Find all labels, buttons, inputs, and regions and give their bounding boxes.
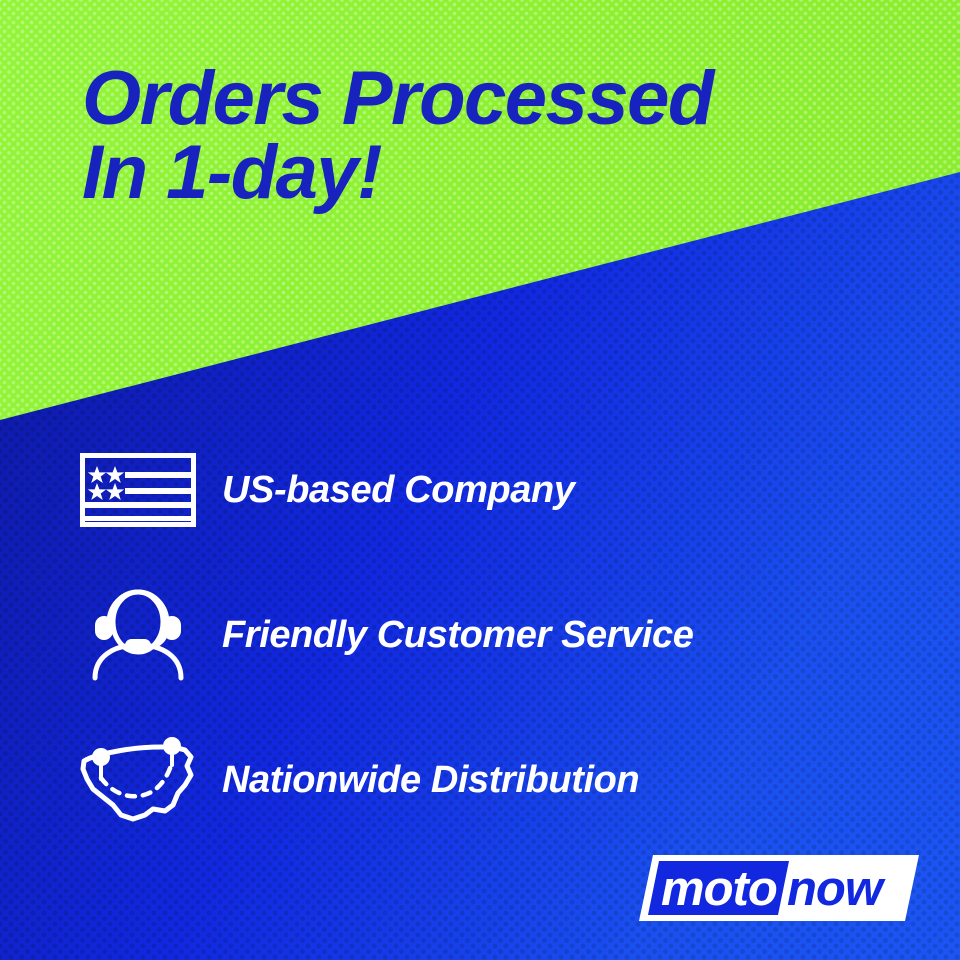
headline-line-2: In 1-day! bbox=[82, 136, 922, 210]
headline: Orders Processed In 1-day! bbox=[82, 62, 922, 209]
feature-label-customer-service: Friendly Customer Service bbox=[222, 614, 694, 657]
headset-agent-icon bbox=[72, 589, 204, 681]
feature-label-nationwide: Nationwide Distribution bbox=[222, 759, 639, 802]
headline-line-1: Orders Processed bbox=[82, 62, 922, 136]
feature-item-customer-service: Friendly Customer Service bbox=[72, 585, 872, 685]
us-flag-icon bbox=[72, 452, 204, 528]
motonow-logo: moto now bbox=[639, 855, 919, 921]
feature-list: US-based Company bbox=[72, 440, 872, 875]
promotional-banner: Orders Processed In 1-day! bbox=[0, 0, 960, 960]
feature-item-nationwide: Nationwide Distribution bbox=[72, 730, 872, 830]
us-map-route-icon bbox=[72, 735, 204, 825]
feature-item-us-based: US-based Company bbox=[72, 440, 872, 540]
logo-text-moto: moto bbox=[661, 862, 777, 916]
logo-text-now: now bbox=[787, 862, 886, 916]
feature-label-us-based: US-based Company bbox=[222, 469, 575, 512]
